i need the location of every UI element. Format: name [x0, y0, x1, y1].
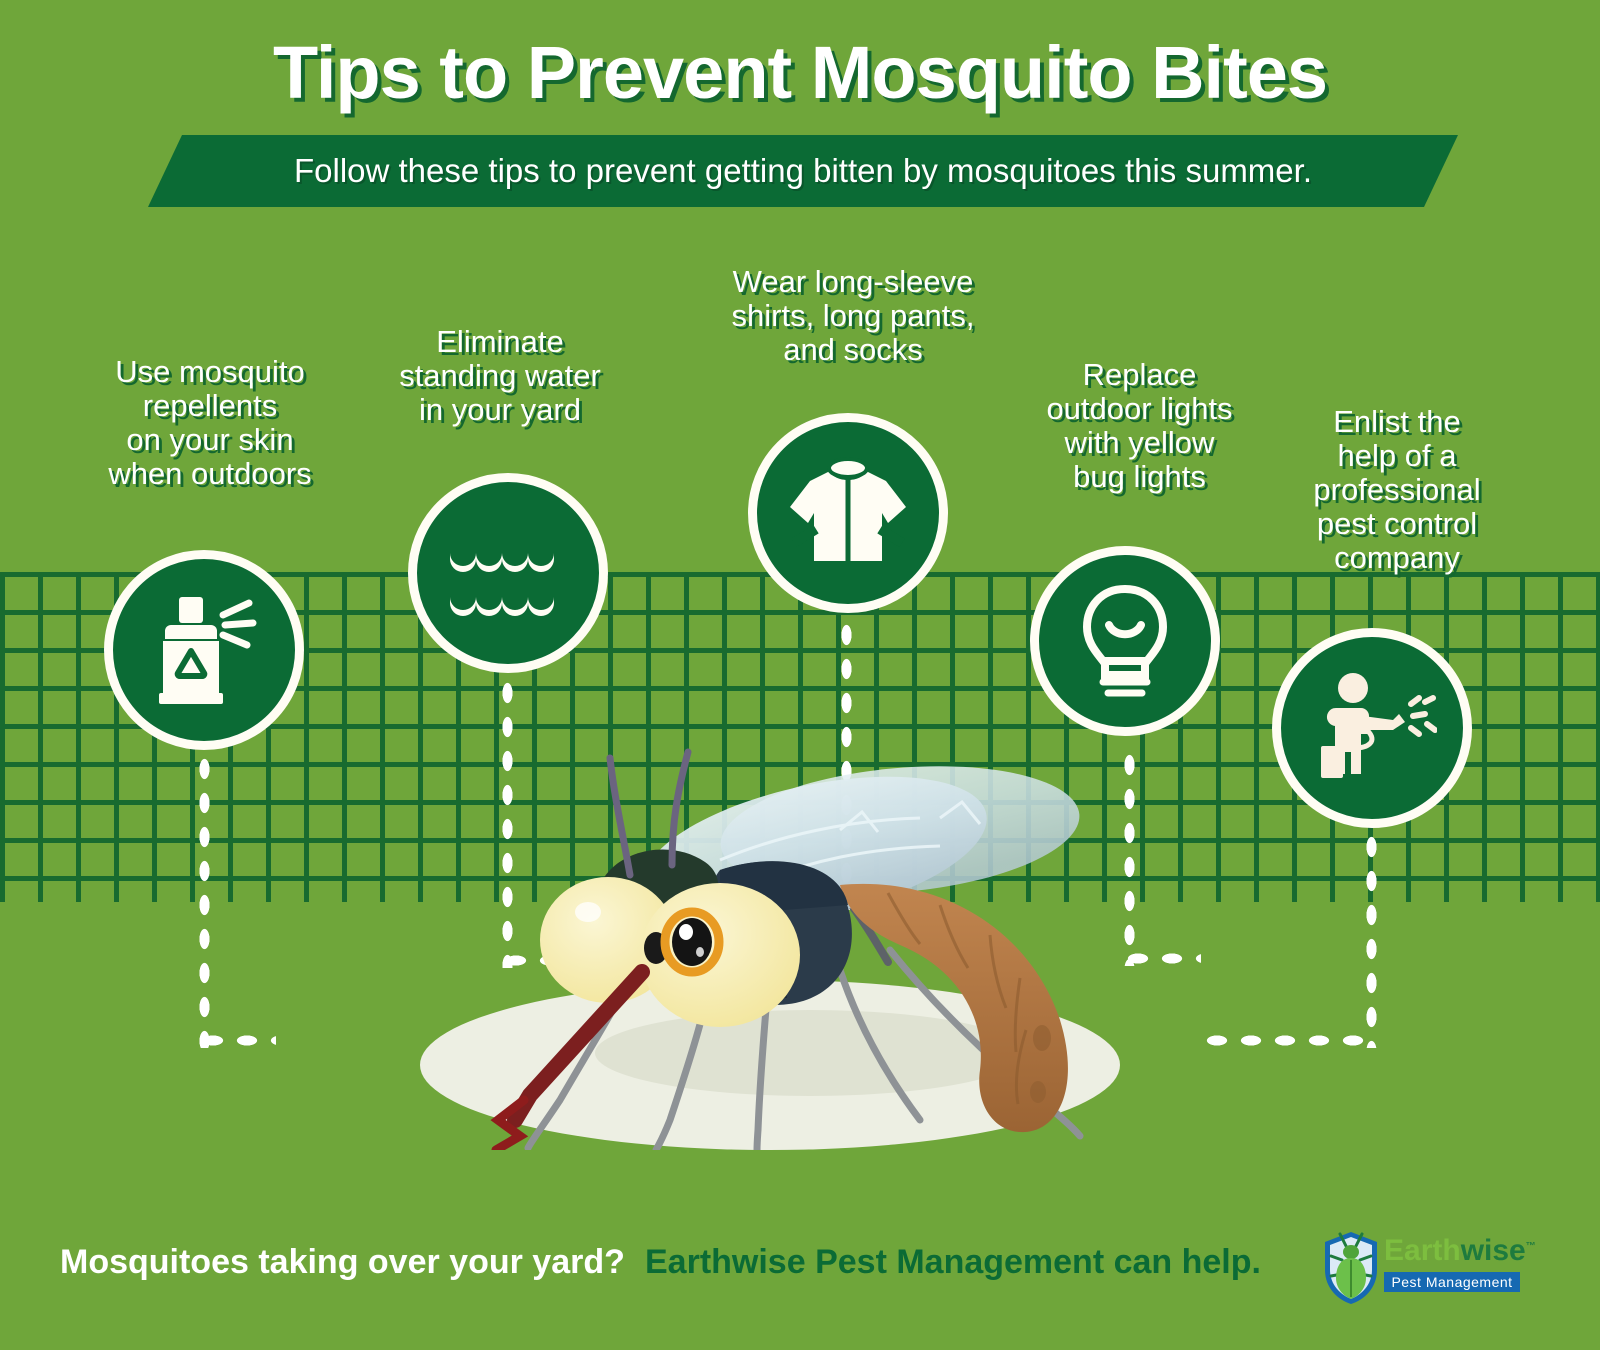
logo-subtitle: Pest Management	[1384, 1272, 1520, 1292]
connector-dots-horizontal-4	[1121, 950, 1201, 967]
connector-dots-vertical-1	[196, 752, 213, 1048]
connector-dots-horizontal-5	[1200, 1032, 1370, 1049]
logo-trademark: ™	[1526, 1241, 1536, 1252]
footer-question: Mosquitoes taking over your yard?	[60, 1243, 625, 1282]
connector-dots-vertical-4	[1121, 748, 1138, 966]
subtitle-text: Follow these tips to prevent getting bit…	[294, 152, 1312, 190]
footer-cta: Earthwise Pest Management can help.	[645, 1243, 1261, 1282]
light-bulb-icon	[1075, 583, 1175, 699]
tip-icon-circle-clothing[interactable]	[748, 413, 948, 613]
tip-icon-circle-repellent[interactable]	[104, 550, 304, 750]
connector-dots-vertical-5	[1363, 830, 1380, 1048]
shield-bug-logo-icon	[1322, 1230, 1380, 1306]
earthwise-logo[interactable]: Earthwise™ Pest Management	[1322, 1230, 1522, 1308]
tip-label-clothing: Wear long-sleeve shirts, long pants, and…	[688, 265, 1018, 367]
subtitle-banner: Follow these tips to prevent getting bit…	[148, 135, 1458, 207]
connector-dots-horizontal-1	[196, 1032, 276, 1049]
pest-technician-icon	[1307, 672, 1437, 784]
page-title: Tips to Prevent Mosquito Bites	[0, 30, 1600, 115]
logo-word-wise: wise	[1461, 1234, 1526, 1267]
tip-label-repellent: Use mosquito repellents on your skin whe…	[45, 355, 375, 491]
tip-icon-circle-standing-water[interactable]	[408, 473, 608, 673]
logo-wordmark: Earthwise™	[1384, 1236, 1536, 1266]
water-waves-icon	[448, 529, 568, 617]
spray-can-icon	[149, 593, 259, 708]
tip-label-bug-lights: Replace outdoor lights with yellow bug l…	[1002, 358, 1277, 494]
mosquito-illustration	[420, 700, 1120, 1150]
jacket-icon	[786, 457, 910, 569]
tip-label-standing-water: Eliminate standing water in your yard	[355, 325, 645, 427]
tip-icon-circle-professional[interactable]	[1272, 628, 1472, 828]
logo-word-earth: Earth	[1384, 1234, 1461, 1267]
infographic-canvas: Tips to Prevent Mosquito Bites Follow th…	[0, 0, 1600, 1350]
tip-label-professional: Enlist the help of a professional pest c…	[1272, 405, 1522, 575]
